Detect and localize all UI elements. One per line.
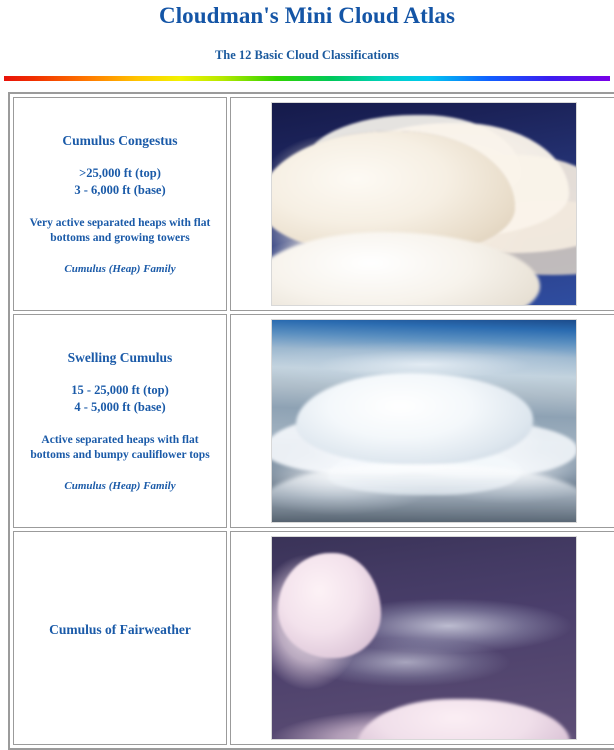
page-title: Cloudman's Mini Cloud Atlas bbox=[0, 0, 614, 29]
page-root: Cloudman's Mini Cloud Atlas The 12 Basic… bbox=[0, 0, 614, 750]
page-subtitle: The 12 Basic Cloud Classifications bbox=[0, 29, 614, 63]
cloud-photo-cell-2 bbox=[230, 314, 614, 528]
swelling-cumulus-photo bbox=[271, 319, 577, 523]
cloud-family: Cumulus (Heap) Family bbox=[22, 262, 218, 276]
cloud-top-altitude: 15 - 25,000 ft (top) bbox=[22, 382, 218, 399]
cloud-description: Very active separated heaps with flat bo… bbox=[22, 216, 218, 246]
cloud-atlas-table: Cumulus Congestus >25,000 ft (top) 3 - 6… bbox=[8, 92, 614, 750]
cloud-altitudes: >25,000 ft (top) 3 - 6,000 ft (base) bbox=[22, 165, 218, 199]
cloud-base-altitude: 3 - 6,000 ft (base) bbox=[22, 182, 218, 199]
cloud-top-altitude: >25,000 ft (top) bbox=[22, 165, 218, 182]
cloud-description: Active separated heaps with flat bottoms… bbox=[22, 433, 218, 463]
cumulus-of-fairweather-photo bbox=[271, 536, 577, 740]
cloud-name: Cumulus Congestus bbox=[22, 132, 218, 150]
cumulus-congestus-photo bbox=[271, 102, 577, 306]
cloud-name: Cumulus of Fairweather bbox=[22, 621, 218, 639]
cloud-info-cell-1: Cumulus Congestus >25,000 ft (top) 3 - 6… bbox=[13, 97, 227, 311]
table-row: Cumulus Congestus >25,000 ft (top) 3 - 6… bbox=[13, 97, 614, 311]
cloud-photo-cell-1 bbox=[230, 97, 614, 311]
cloud-name: Swelling Cumulus bbox=[22, 349, 218, 367]
cloud-info-cell-3: Cumulus of Fairweather bbox=[13, 531, 227, 745]
cloud-altitudes: 15 - 25,000 ft (top) 4 - 5,000 ft (base) bbox=[22, 382, 218, 416]
table-row: Cumulus of Fairweather bbox=[13, 531, 614, 745]
cloud-photo-cell-3 bbox=[230, 531, 614, 745]
cloud-info-cell-2: Swelling Cumulus 15 - 25,000 ft (top) 4 … bbox=[13, 314, 227, 528]
rainbow-divider bbox=[4, 76, 610, 81]
table-row: Swelling Cumulus 15 - 25,000 ft (top) 4 … bbox=[13, 314, 614, 528]
cloud-base-altitude: 4 - 5,000 ft (base) bbox=[22, 399, 218, 416]
cloud-family: Cumulus (Heap) Family bbox=[22, 479, 218, 493]
